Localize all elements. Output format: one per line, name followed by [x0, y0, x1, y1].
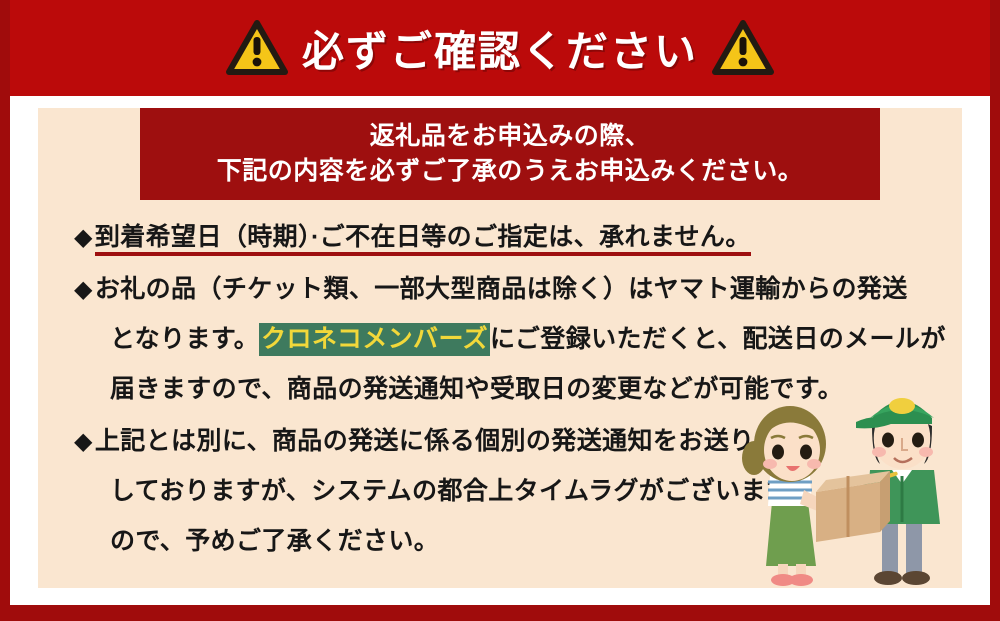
- content-panel: 返礼品をお申込みの際、 下記の内容を必ずご了承のうえお申込みください。 ◆到着希…: [38, 108, 962, 588]
- subtitle-box: 返礼品をお申込みの際、 下記の内容を必ずご了承のうえお申込みください。: [140, 108, 880, 200]
- notice-line-text: しておりますが、システムの都合上タイムラグがございます: [110, 477, 791, 505]
- warning-triangle-icon: [712, 20, 774, 76]
- notice-line-text: ので、予めご了承ください。: [110, 527, 439, 555]
- bullet-diamond-icon: ◆: [74, 428, 93, 455]
- notice-line-text: 到着希望日（時期）·ご不在日等のご指定は、承れません。: [95, 223, 751, 256]
- notice-line: ◆到着希望日（時期）·ご不在日等のご指定は、承れません。: [74, 212, 944, 262]
- subtitle-line-2: 下記の内容を必ずご了承のうえお申込みください。: [217, 156, 804, 187]
- notice-line-suffix: にご登録いただくと、配送日のメールが: [490, 325, 946, 353]
- notice-line: となります。クロネコメンバーズにご登録いただくと、配送日のメールが: [74, 314, 944, 364]
- warning-triangle-icon: [226, 20, 288, 76]
- notice-bullet-1: ◆到着希望日（時期）·ご不在日等のご指定は、承れません。: [74, 212, 944, 262]
- banner-title: 必ずご確認ください: [302, 18, 698, 79]
- subtitle-line-1: 返礼品をお申込みの際、: [370, 121, 651, 152]
- notice-line: ◆お礼の品（チケット類、一部大型商品は除く）はヤマト運輸からの発送: [74, 264, 944, 314]
- notice-line-text: 上記とは別に、商品の発送に係る個別の発送通知をお送り: [95, 427, 755, 455]
- banner-header: 必ずご確認ください: [0, 0, 1000, 96]
- notice-banner: 必ずご確認ください 返礼品をお申込みの際、 下記の内容を必ずご了承のうえお申込み…: [0, 0, 1000, 621]
- cardboard-box-icon: [816, 471, 890, 542]
- bullet-diamond-icon: ◆: [74, 276, 93, 303]
- notice-line-prefix: となります。: [110, 325, 259, 353]
- delivery-handover-illustration: [730, 366, 962, 588]
- notice-line-text: お礼の品（チケット類、一部大型商品は除く）はヤマト運輸からの発送: [95, 275, 908, 303]
- bullet-diamond-icon: ◆: [74, 224, 93, 251]
- kuroneko-members-highlight: クロネコメンバーズ: [259, 323, 490, 356]
